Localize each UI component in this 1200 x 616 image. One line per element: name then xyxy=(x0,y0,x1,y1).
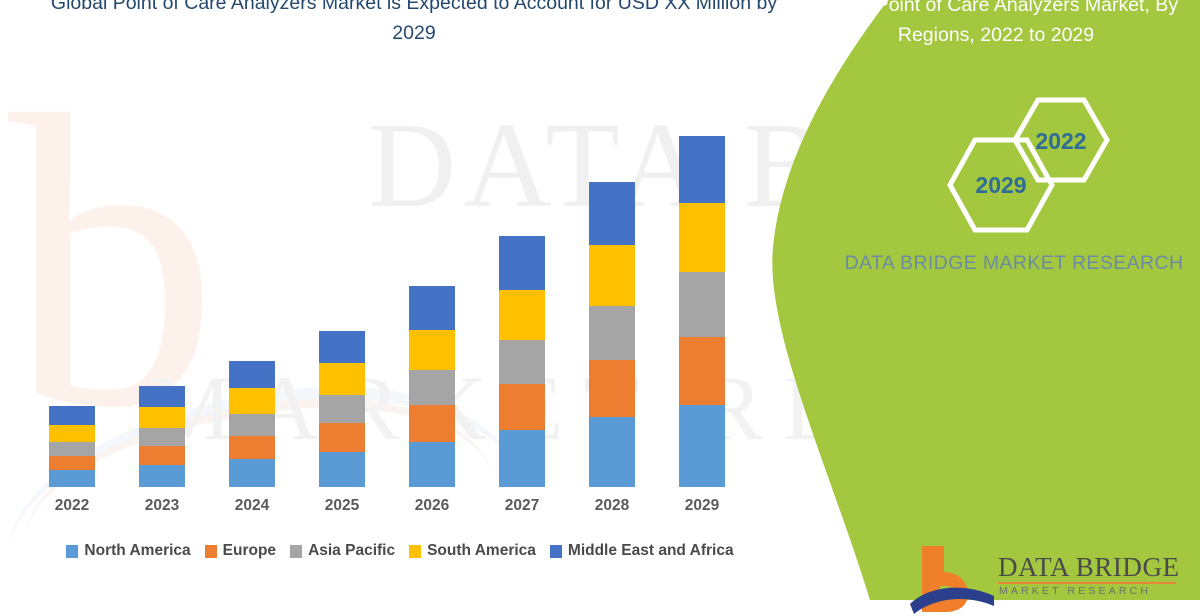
bar-segment xyxy=(679,136,725,203)
bar-2024[interactable] xyxy=(229,361,275,487)
legend-label: Middle East and Africa xyxy=(568,542,734,560)
legend-swatch-icon xyxy=(550,545,562,558)
logo-divider xyxy=(998,582,1176,584)
right-green-panel: 2029 2022 Global Point of Care Analyzers… xyxy=(770,0,1200,600)
bar-segment xyxy=(49,456,95,470)
bar-segment xyxy=(319,331,365,363)
logo-tagline: MARKET RESEARCH xyxy=(999,585,1151,597)
x-axis-label-2023: 2023 xyxy=(117,497,207,515)
bar-segment xyxy=(409,405,455,442)
legend-swatch-icon xyxy=(409,545,421,558)
hexagon-2029-label: 2029 xyxy=(950,172,1052,199)
bar-segment xyxy=(409,442,455,487)
legend-label: Asia Pacific xyxy=(308,542,395,560)
legend-swatch-icon xyxy=(66,545,78,558)
bar-segment xyxy=(679,405,725,487)
bar-segment xyxy=(679,337,725,405)
bar-segment xyxy=(49,442,95,456)
bar-segment xyxy=(229,361,275,388)
bar-segment xyxy=(319,395,365,423)
bar-segment xyxy=(679,203,725,272)
panel-brand-text: DATA BRIDGE MARKET RESEARCH xyxy=(844,248,1184,279)
panel-title: Global Point of Care Analyzers Market, B… xyxy=(800,0,1192,50)
bar-segment xyxy=(409,330,455,370)
x-axis-label-2022: 2022 xyxy=(27,497,117,515)
x-axis-label-2024: 2024 xyxy=(207,497,297,515)
bar-segment xyxy=(229,388,275,414)
x-axis-label-2027: 2027 xyxy=(477,497,567,515)
bar-segment xyxy=(499,384,545,430)
bar-segment xyxy=(319,452,365,487)
bar-segment xyxy=(589,306,635,360)
legend-label: South America xyxy=(427,542,536,560)
bar-2027[interactable] xyxy=(499,236,545,487)
bar-segment xyxy=(409,286,455,330)
bar-segment xyxy=(319,363,365,395)
bar-segment xyxy=(139,386,185,407)
x-axis-labels: 20222023202420252026202720282029 xyxy=(0,497,820,521)
bar-2022[interactable] xyxy=(49,406,95,487)
hexagon-group: 2029 2022 xyxy=(770,0,1200,600)
bar-segment xyxy=(589,182,635,245)
bar-2023[interactable] xyxy=(139,386,185,487)
legend-label: Europe xyxy=(223,542,276,560)
bar-segment xyxy=(499,290,545,340)
bar-segment xyxy=(679,272,725,337)
chart-legend: North AmericaEuropeAsia PacificSouth Ame… xyxy=(0,538,800,564)
legend-item[interactable]: Europe xyxy=(205,542,276,560)
x-axis-label-2029: 2029 xyxy=(657,497,747,515)
logo-b-mark-icon xyxy=(910,542,994,614)
bar-segment xyxy=(499,430,545,487)
bar-segment xyxy=(229,459,275,487)
bar-2025[interactable] xyxy=(319,331,365,487)
bar-segment xyxy=(499,236,545,290)
bar-2028[interactable] xyxy=(589,182,635,487)
hexagon-2022-label: 2022 xyxy=(1015,128,1107,155)
legend-item[interactable]: South America xyxy=(409,542,536,560)
infographic-canvas: b DATA BRIDGE MARKET RESEARCH Global Poi… xyxy=(0,0,1200,600)
legend-swatch-icon xyxy=(205,545,217,558)
legend-swatch-icon xyxy=(290,545,302,558)
bar-segment xyxy=(229,414,275,436)
x-axis-label-2028: 2028 xyxy=(567,497,657,515)
bar-segment xyxy=(139,407,185,428)
logo-name: DATA BRIDGE xyxy=(998,552,1180,583)
bar-segment xyxy=(589,360,635,417)
bar-segment xyxy=(49,406,95,425)
legend-item[interactable]: Middle East and Africa xyxy=(550,542,734,560)
bar-2026[interactable] xyxy=(409,286,455,487)
bar-segment xyxy=(499,340,545,384)
legend-label: North America xyxy=(84,542,190,560)
x-axis-label-2026: 2026 xyxy=(387,497,477,515)
legend-item[interactable]: North America xyxy=(66,542,190,560)
bar-segment xyxy=(589,245,635,306)
bar-2029[interactable] xyxy=(679,136,725,487)
bar-segment xyxy=(319,423,365,452)
dbmr-logo: DATA BRIDGE MARKET RESEARCH xyxy=(910,542,1190,616)
bar-segment xyxy=(229,436,275,459)
bar-segment xyxy=(49,425,95,442)
bar-segment xyxy=(139,446,185,465)
bar-segment xyxy=(589,417,635,487)
bar-segment xyxy=(49,470,95,487)
bar-segment xyxy=(139,465,185,487)
legend-item[interactable]: Asia Pacific xyxy=(290,542,395,560)
bar-segment xyxy=(139,428,185,446)
x-axis-label-2025: 2025 xyxy=(297,497,387,515)
bar-segment xyxy=(409,370,455,405)
